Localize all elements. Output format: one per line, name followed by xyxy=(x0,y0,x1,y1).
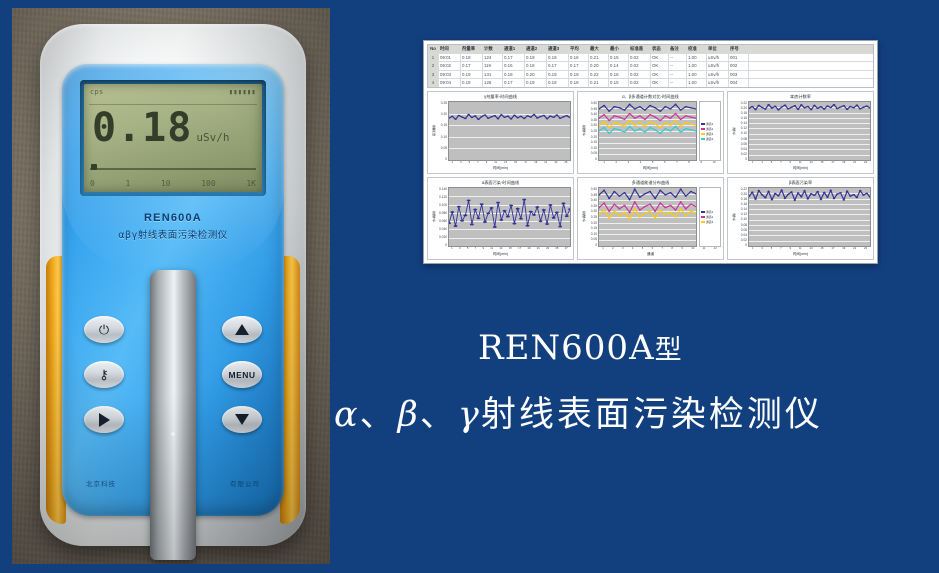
y-tick-label: 0.22 xyxy=(741,101,747,105)
spreadsheet-cell: uSv/h xyxy=(707,54,729,62)
spreadsheet-row: 209:020.171190.160.180.170.170.200.140.0… xyxy=(428,62,873,71)
spreadsheet-cell: 1.00 xyxy=(687,54,707,62)
y-tick-label: 0.18 xyxy=(741,197,747,201)
chart-y-axis-label: 计数 xyxy=(730,187,736,247)
y-tick-label: 0.35 xyxy=(591,118,597,122)
chart-y-ticks: 0.220.200.180.160.140.120.100.080.060.04… xyxy=(736,187,748,247)
title-block: REN600A型 α、β、γ射线表面污染检测仪 xyxy=(330,318,939,498)
chart-plot-area xyxy=(448,101,571,161)
chart-title: 多通道能谱分布曲线 xyxy=(580,180,721,187)
chart-x-axis-label: 时间(min) xyxy=(730,166,871,172)
spreadsheet-cell: 0.19 xyxy=(569,71,589,79)
spreadsheet-cell: 4 xyxy=(428,79,439,87)
chart-top-right: 本底计数率计数0.220.200.180.160.140.120.100.080… xyxy=(727,91,874,174)
spreadsheet-cell: 0.21 xyxy=(589,79,609,87)
y-tick-label: 0.14 xyxy=(741,121,747,125)
spreadsheet-cell: 0.20 xyxy=(525,71,547,79)
chart-x-axis-label: 时间(min) xyxy=(730,252,871,258)
y-tick-label: 0.02 xyxy=(741,152,747,156)
spreadsheet-cell: 0.17 xyxy=(503,54,525,62)
spreadsheet-cell: 09:02 xyxy=(439,62,461,70)
alpha-symbol: α xyxy=(334,395,360,435)
spreadsheet-cell: 0.18 xyxy=(525,62,547,70)
spreadsheet-cell: 0.16 xyxy=(609,71,629,79)
product-photo: cps ▮▮▮▮▮▮ 0.18 uSv/h 0 1 xyxy=(12,8,330,564)
spreadsheet-cell: 0.19 xyxy=(525,54,547,62)
chart-gridline xyxy=(599,246,696,247)
chart-x-axis-label: 时间(min) xyxy=(430,252,571,258)
y-tick-label: 0.18 xyxy=(741,111,747,115)
description-text: 射线表面污染检测仪 xyxy=(481,395,823,435)
legend-item: 通道1 xyxy=(701,122,719,126)
chart-gridline xyxy=(599,160,696,161)
legend-swatch xyxy=(701,133,705,135)
legend-swatch xyxy=(701,216,705,218)
legend-item: 通道3 xyxy=(701,220,719,224)
y-tick-label: 0.25 xyxy=(441,101,447,105)
y-tick-label: 0.15 xyxy=(441,123,447,127)
chart-legend: 通道1通道2通道3 xyxy=(699,187,721,247)
chart-title: α、β多通道计数对比-时间曲线 xyxy=(580,94,721,101)
y-tick-label: 0.04 xyxy=(741,147,747,151)
y-tick-label: 0.020 xyxy=(439,235,447,239)
spreadsheet-row: 309:030.191310.180.200.190.190.220.160.0… xyxy=(428,71,873,80)
y-tick-label: 0.14 xyxy=(741,207,747,211)
chart-y-ticks: 0.1400.1200.1000.0800.0600.0400.0200 xyxy=(436,187,448,247)
spreadsheet-cell: 001 xyxy=(729,54,749,62)
spreadsheet-cell: 0.18 xyxy=(569,79,589,87)
y-tick-label: 0.10 xyxy=(741,217,747,221)
spreadsheet-row: 109:010.181240.170.190.180.180.210.150.0… xyxy=(428,54,873,63)
spreadsheet-cell: 131 xyxy=(483,71,503,79)
slide-root: cps ▮▮▮▮▮▮ 0.18 uSv/h 0 1 xyxy=(0,0,939,573)
spreadsheet-cell: 通道1 xyxy=(503,45,525,53)
chart-plot-area xyxy=(748,187,871,247)
spreadsheet-cell: uSv/h xyxy=(707,71,729,79)
legend-label: 通道4 xyxy=(706,137,713,141)
spreadsheet-cell: 0.15 xyxy=(609,79,629,87)
legend-label: 通道1 xyxy=(706,122,713,126)
y-tick-label: 0.06 xyxy=(741,228,747,232)
spreadsheet-cell: 0.17 xyxy=(461,62,483,70)
chart-x-axis-label: 时间(min) xyxy=(580,166,721,172)
spreadsheet-cell: 通道2 xyxy=(525,45,547,53)
legend-item: 通道4 xyxy=(701,137,719,141)
chart-y-ticks: 0.220.200.180.160.140.120.100.080.060.04… xyxy=(736,101,748,161)
spreadsheet-cell: 0.02 xyxy=(629,54,651,62)
y-tick-label: 0.10 xyxy=(591,146,597,150)
chart-gridline xyxy=(449,160,570,161)
separator-1: 、 xyxy=(360,395,398,435)
spreadsheet-cell: 126 xyxy=(483,79,503,87)
chart-bottom-left: α表面污染-时间曲线计数率0.1400.1200.1000.0800.0600.… xyxy=(427,177,574,260)
beta-symbol: β xyxy=(398,395,420,435)
spreadsheet-cell: 0.19 xyxy=(547,71,569,79)
chart-title: β表面污染率 xyxy=(730,180,871,187)
y-tick-label: 0.30 xyxy=(591,209,597,213)
spreadsheet-cell: OK xyxy=(651,62,669,70)
y-tick-label: 0.12 xyxy=(741,126,747,130)
spreadsheet-cell: -- xyxy=(669,54,687,62)
legend-label: 通道2 xyxy=(706,215,713,219)
chart-top-mid: α、β多通道计数对比-时间曲线计数率0.500.450.400.350.300.… xyxy=(577,91,724,174)
spreadsheet-cell: 0.18 xyxy=(461,54,483,62)
y-tick-label: 0.45 xyxy=(591,107,597,111)
legend-label: 通道3 xyxy=(706,132,713,136)
spreadsheet-cell: 标准差 xyxy=(629,45,651,53)
chart-plot-area xyxy=(448,187,571,247)
spreadsheet-cell: 状态 xyxy=(651,45,669,53)
y-tick-label: 0.08 xyxy=(741,223,747,227)
y-tick-label: 0.08 xyxy=(741,137,747,141)
spreadsheet-cell: 0.20 xyxy=(589,62,609,70)
chart-gridline xyxy=(749,160,870,161)
y-tick-label: 0.04 xyxy=(741,233,747,237)
product-description-title: α、β、γ射线表面污染检测仪 xyxy=(334,386,823,437)
spreadsheet-cell: 0.22 xyxy=(589,71,609,79)
y-tick-label: 0.060 xyxy=(439,219,447,223)
y-tick-label: 0.40 xyxy=(591,112,597,116)
legend-label: 通道1 xyxy=(706,210,713,214)
y-tick-label: 0.30 xyxy=(591,123,597,127)
y-tick-label: 0.140 xyxy=(439,187,447,191)
y-tick-label: 0.20 xyxy=(441,112,447,116)
spreadsheet-cell: 0.02 xyxy=(629,79,651,87)
y-tick-label: 0.20 xyxy=(741,106,747,110)
chart-y-ticks: 0.250.200.150.100.050 xyxy=(436,101,448,161)
spreadsheet-cell: 备注 xyxy=(669,45,687,53)
spreadsheet-cell: 0.17 xyxy=(569,62,589,70)
y-tick-label: 0.45 xyxy=(591,193,597,197)
y-tick-label: 0.20 xyxy=(741,192,747,196)
chart-top-left: γ剂量率-时间曲线剂量率0.250.200.150.100.0501357911… xyxy=(427,91,574,174)
legend-item: 通道3 xyxy=(701,132,719,136)
spreadsheet-cell: 0.17 xyxy=(503,79,525,87)
y-tick-label: 0.25 xyxy=(591,215,597,219)
y-tick-label: 0.100 xyxy=(439,203,447,207)
spreadsheet-cell: 0.18 xyxy=(569,54,589,62)
y-tick-label: 0.10 xyxy=(741,131,747,135)
spreadsheet-cell: 1.00 xyxy=(687,62,707,70)
chart-gridline xyxy=(449,246,570,247)
chart-title: 本底计数率 xyxy=(730,94,871,101)
spreadsheet-cell: 002 xyxy=(729,62,749,70)
legend-label: 通道2 xyxy=(706,127,713,131)
spreadsheet-cell: 0.14 xyxy=(609,62,629,70)
chart-grid: γ剂量率-时间曲线剂量率0.250.200.150.100.0501357911… xyxy=(427,91,874,260)
chart-y-ticks: 0.500.450.400.350.300.250.200.150.100.05… xyxy=(586,101,598,161)
y-tick-label: 0.040 xyxy=(439,227,447,231)
y-tick-label: 0.05 xyxy=(591,151,597,155)
spreadsheet-cell: 1 xyxy=(428,54,439,62)
spreadsheet-cell: 124 xyxy=(483,54,503,62)
software-screenshot-panel: No时间剂量率计数通道1通道2通道3平均最大最小标准差状态备注校准单位序号109… xyxy=(423,40,878,264)
spreadsheet-row: 409:040.181260.170.190.180.180.210.150.0… xyxy=(428,79,873,88)
legend-swatch xyxy=(701,138,705,140)
spreadsheet-cell: 09:04 xyxy=(439,79,461,87)
spreadsheet-cell: 0.21 xyxy=(589,54,609,62)
legend-swatch xyxy=(701,123,705,125)
y-tick-label: 0.50 xyxy=(591,187,597,191)
spreadsheet-cell: 0.18 xyxy=(547,54,569,62)
spreadsheet-cell: 0.19 xyxy=(525,79,547,87)
chart-title: γ剂量率-时间曲线 xyxy=(430,94,571,101)
spreadsheet-cell: 1.00 xyxy=(687,71,707,79)
spreadsheet-cell: -- xyxy=(669,71,687,79)
chart-y-axis-label: 计数率 xyxy=(430,187,436,247)
legend-item: 通道2 xyxy=(701,215,719,219)
legend-label: 通道3 xyxy=(706,220,713,224)
spreadsheet-cell: 最小 xyxy=(609,45,629,53)
y-tick-label: 0.16 xyxy=(741,116,747,120)
spreadsheet-cell: OK xyxy=(651,54,669,62)
y-tick-label: 0.40 xyxy=(591,198,597,202)
spreadsheet-cell: 0.02 xyxy=(629,71,651,79)
y-tick-label: 0.25 xyxy=(591,129,597,133)
y-tick-label: 0.05 xyxy=(441,146,447,150)
chart-gridline xyxy=(749,246,870,247)
spreadsheet-cell: 0.15 xyxy=(609,54,629,62)
spreadsheet-cell: 剂量率 xyxy=(461,45,483,53)
legend-item: 通道1 xyxy=(701,210,719,214)
spreadsheet-cell: 3 xyxy=(428,71,439,79)
y-tick-label: 0.16 xyxy=(741,202,747,206)
spreadsheet-cell: 平均 xyxy=(569,45,589,53)
spreadsheet-cell: 计数 xyxy=(483,45,503,53)
spreadsheet-cell: OK xyxy=(651,79,669,87)
chart-plot-area xyxy=(748,101,871,161)
y-tick-label: 0.06 xyxy=(741,142,747,146)
y-tick-label: 0.22 xyxy=(741,187,747,191)
y-tick-label: 0.080 xyxy=(439,211,447,215)
spreadsheet-cell: 119 xyxy=(483,62,503,70)
product-model-title: REN600A型 xyxy=(478,328,683,368)
spreadsheet-cell: 时间 xyxy=(439,45,461,53)
legend-swatch xyxy=(701,221,705,223)
spreadsheet-cell: 004 xyxy=(729,79,749,87)
chart-plot-area xyxy=(598,101,697,161)
spreadsheet-cell: 0.18 xyxy=(547,79,569,87)
y-tick-label: 0.120 xyxy=(439,195,447,199)
chart-bottom-right: β表面污染率计数0.220.200.180.160.140.120.100.08… xyxy=(727,177,874,260)
y-tick-label: 0.15 xyxy=(591,140,597,144)
spreadsheet-cell: -- xyxy=(669,62,687,70)
spreadsheet-cell: uSv/h xyxy=(707,62,729,70)
spreadsheet-cell: 2 xyxy=(428,62,439,70)
spreadsheet-cell: 序号 xyxy=(729,45,749,53)
chart-y-axis-label: 计数率 xyxy=(580,101,586,161)
chart-y-axis-label: 计数 xyxy=(730,101,736,161)
chart-legend: 通道1通道2通道3通道4 xyxy=(699,101,721,161)
y-tick-label: 0.20 xyxy=(591,221,597,225)
model-suffix: 型 xyxy=(655,335,683,366)
spreadsheet-cell: -- xyxy=(669,79,687,87)
photo-vignette xyxy=(12,8,330,564)
y-tick-label: 0.35 xyxy=(591,204,597,208)
chart-title: α表面污染-时间曲线 xyxy=(430,180,571,187)
spreadsheet-cell: 0.18 xyxy=(503,71,525,79)
spreadsheet-cell: 003 xyxy=(729,71,749,79)
legend-swatch xyxy=(701,128,705,130)
spreadsheet-cell: 0.16 xyxy=(503,62,525,70)
data-spreadsheet: No时间剂量率计数通道1通道2通道3平均最大最小标准差状态备注校准单位序号109… xyxy=(427,44,874,88)
spreadsheet-cell: 单位 xyxy=(707,45,729,53)
y-tick-label: 0.10 xyxy=(441,135,447,139)
chart-bottom-mid: 多通道能谱分布曲线计数率0.500.450.400.350.300.250.20… xyxy=(577,177,724,260)
spreadsheet-cell: 1.00 xyxy=(687,79,707,87)
spreadsheet-cell: 0.02 xyxy=(629,62,651,70)
y-tick-label: 0.20 xyxy=(591,135,597,139)
spreadsheet-cell: No xyxy=(428,45,439,53)
spreadsheet-cell: 0.19 xyxy=(461,71,483,79)
spreadsheet-cell: 最大 xyxy=(589,45,609,53)
y-tick-label: 0.02 xyxy=(741,238,747,242)
y-tick-label: 0.12 xyxy=(741,212,747,216)
chart-y-axis-label: 剂量率 xyxy=(430,101,436,161)
chart-y-axis-label: 计数率 xyxy=(580,187,586,247)
chart-x-axis-label: 时间(min) xyxy=(430,166,571,172)
chart-plot-area xyxy=(598,187,697,247)
spreadsheet-cell: 0.17 xyxy=(547,62,569,70)
chart-y-ticks: 0.500.450.400.350.300.250.200.150.100.05… xyxy=(586,187,598,247)
chart-x-axis-label: 通道 xyxy=(580,252,721,258)
legend-swatch xyxy=(701,211,705,213)
y-tick-label: 0.15 xyxy=(591,226,597,230)
y-tick-label: 0.50 xyxy=(591,101,597,105)
gamma-symbol: γ xyxy=(458,395,481,435)
spreadsheet-cell: 通道3 xyxy=(547,45,569,53)
y-tick-label: 0.10 xyxy=(591,232,597,236)
y-tick-label: 0.05 xyxy=(591,237,597,241)
spreadsheet-header-row: No时间剂量率计数通道1通道2通道3平均最大最小标准差状态备注校准单位序号 xyxy=(428,45,873,54)
spreadsheet-cell: OK xyxy=(651,71,669,79)
spreadsheet-cell: 0.18 xyxy=(461,79,483,87)
spreadsheet-cell: 09:03 xyxy=(439,71,461,79)
model-text: REN600A xyxy=(478,328,655,368)
spreadsheet-cell: 09:01 xyxy=(439,54,461,62)
legend-item: 通道2 xyxy=(701,127,719,131)
spreadsheet-cell: 校准 xyxy=(687,45,707,53)
spreadsheet-cell: uSv/h xyxy=(707,79,729,87)
separator-2: 、 xyxy=(420,395,458,435)
